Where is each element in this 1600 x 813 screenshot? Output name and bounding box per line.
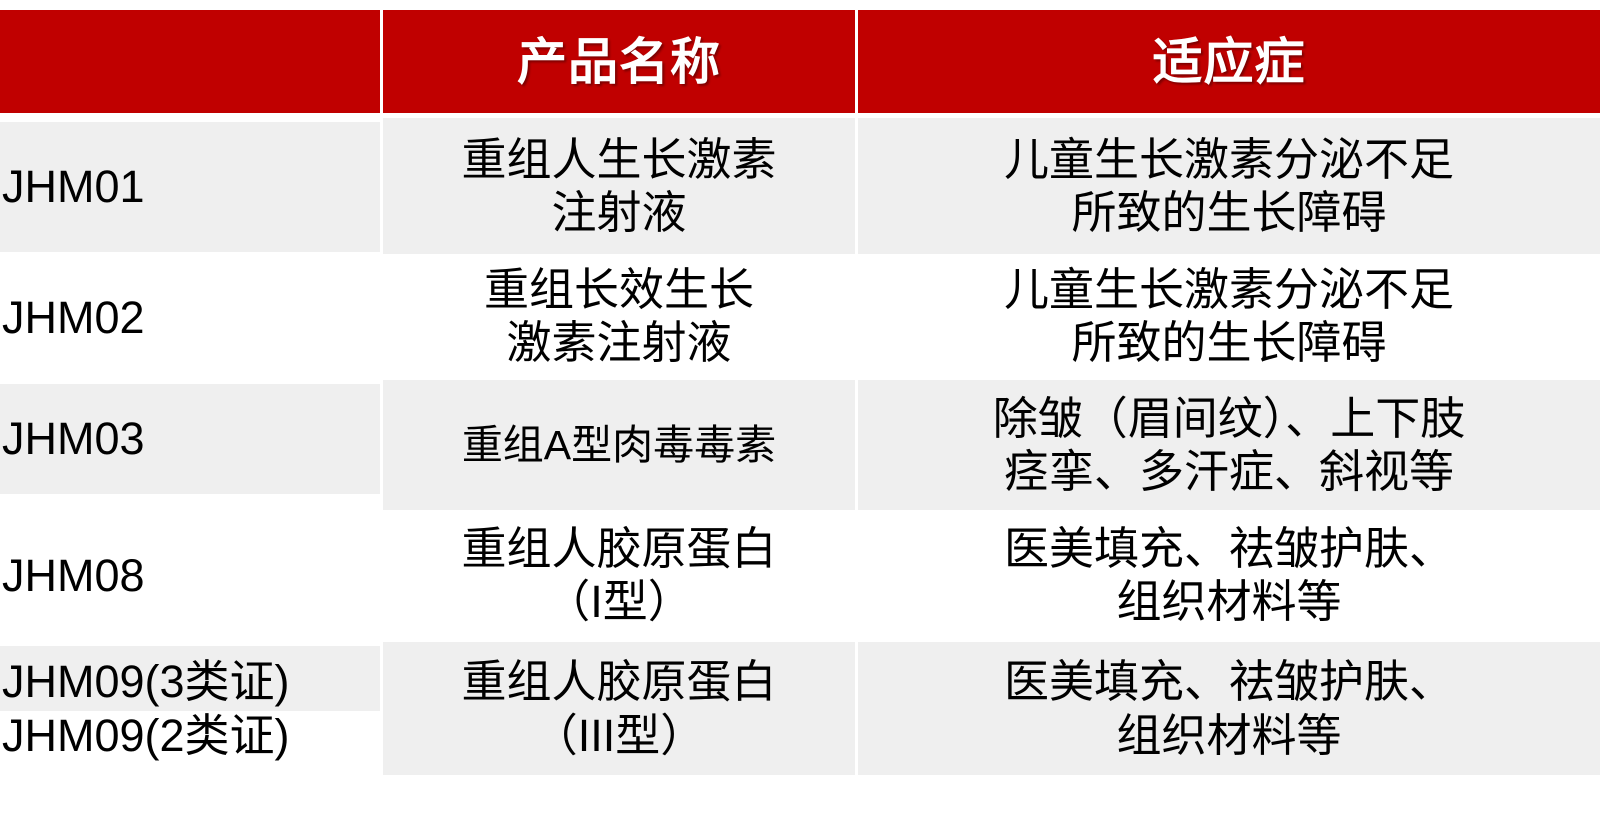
- cell-code-1-line-1: JHM01: [2, 160, 145, 213]
- cell-code-2-line-1: JHM02: [2, 291, 145, 344]
- header-label-indication: 适应症: [1153, 37, 1306, 87]
- cell-name-2-line-2: 激素注射液: [506, 316, 731, 369]
- cell-name-5-line-2: （III型）: [533, 709, 706, 762]
- table-row: JHM02: [0, 254, 380, 382]
- cell-product-name-5: 重组人胶原蛋白 （III型）: [383, 642, 855, 775]
- table-row: JHM09(3类证) JHM09(2类证): [0, 642, 380, 775]
- header-cell-indication: 适应症: [858, 10, 1600, 113]
- cell-name-5-line-1: 重组人胶原蛋白: [461, 655, 776, 708]
- cell-name-2-line-1: 重组长效生长: [484, 263, 754, 316]
- cell-indication-5-line-1: 医美填充、祛皱护肤、: [1004, 655, 1454, 708]
- cell-indication-3: 除皱（眉间纹）、上下肢 痉挛、多汗症、斜视等: [858, 380, 1600, 510]
- cell-name-4-line-1: 重组人胶原蛋白: [461, 522, 776, 575]
- header-cell-code: [0, 10, 380, 113]
- cell-product-name-2: 重组长效生长 激素注射液: [383, 252, 855, 380]
- cell-indication-1-line-1: 儿童生长激素分泌不足: [1004, 133, 1454, 186]
- cell-code-3-line-1: JHM03: [2, 412, 145, 465]
- table-row: JHM01: [0, 122, 380, 252]
- cell-indication-4: 医美填充、祛皱护肤、 组织材料等: [858, 510, 1600, 640]
- product-pipeline-table: 产品名称 适应症 JHM01 重组人生长激素 注射液 儿童生长激素分泌不足: [0, 0, 1600, 813]
- cell-indication-2-line-1: 儿童生长激素分泌不足: [1004, 263, 1454, 316]
- cell-code-4-line-1: JHM08: [2, 549, 145, 602]
- cell-indication-2: 儿童生长激素分泌不足 所致的生长障碍: [858, 252, 1600, 380]
- cell-indication-3-line-2: 痉挛、多汗症、斜视等: [1004, 445, 1454, 498]
- cell-product-name-3: 重组A型肉毒毒素: [383, 380, 855, 510]
- cell-name-3-line-1: 重组A型肉毒毒素: [462, 421, 776, 469]
- cell-code-5-line-1: JHM09(3类证): [2, 655, 290, 708]
- cell-indication-1: 儿童生长激素分泌不足 所致的生长障碍: [858, 118, 1600, 254]
- cell-indication-4-line-1: 医美填充、祛皱护肤、: [1004, 522, 1454, 575]
- cell-indication-3-line-1: 除皱（眉间纹）、上下肢: [993, 392, 1466, 445]
- cell-indication-1-line-2: 所致的生长障碍: [1071, 186, 1386, 239]
- cell-code-5-line-2: JHM09(2类证): [2, 709, 290, 762]
- cell-indication-5-line-2: 组织材料等: [1116, 709, 1341, 762]
- slide-canvas: 产品名称 适应症 JHM01 重组人生长激素 注射液 儿童生长激素分泌不足: [0, 0, 1600, 813]
- cell-product-name-1: 重组人生长激素 注射液: [383, 118, 855, 254]
- table-row: JHM08: [0, 512, 380, 640]
- cell-name-4-line-2: （I型）: [545, 575, 693, 628]
- cell-name-1-line-2: 注射液: [551, 186, 686, 239]
- cell-product-name-4: 重组人胶原蛋白 （I型）: [383, 510, 855, 640]
- header-cell-product-name: 产品名称: [383, 10, 855, 113]
- cell-indication-4-line-2: 组织材料等: [1116, 575, 1341, 628]
- table-header-row: 产品名称 适应症: [0, 10, 1600, 113]
- cell-indication-5: 医美填充、祛皱护肤、 组织材料等: [858, 642, 1600, 775]
- table-row: JHM03: [0, 384, 380, 494]
- cell-indication-2-line-2: 所致的生长障碍: [1071, 316, 1386, 369]
- cell-name-1-line-1: 重组人生长激素: [461, 133, 776, 186]
- header-label-product-name: 产品名称: [517, 37, 721, 87]
